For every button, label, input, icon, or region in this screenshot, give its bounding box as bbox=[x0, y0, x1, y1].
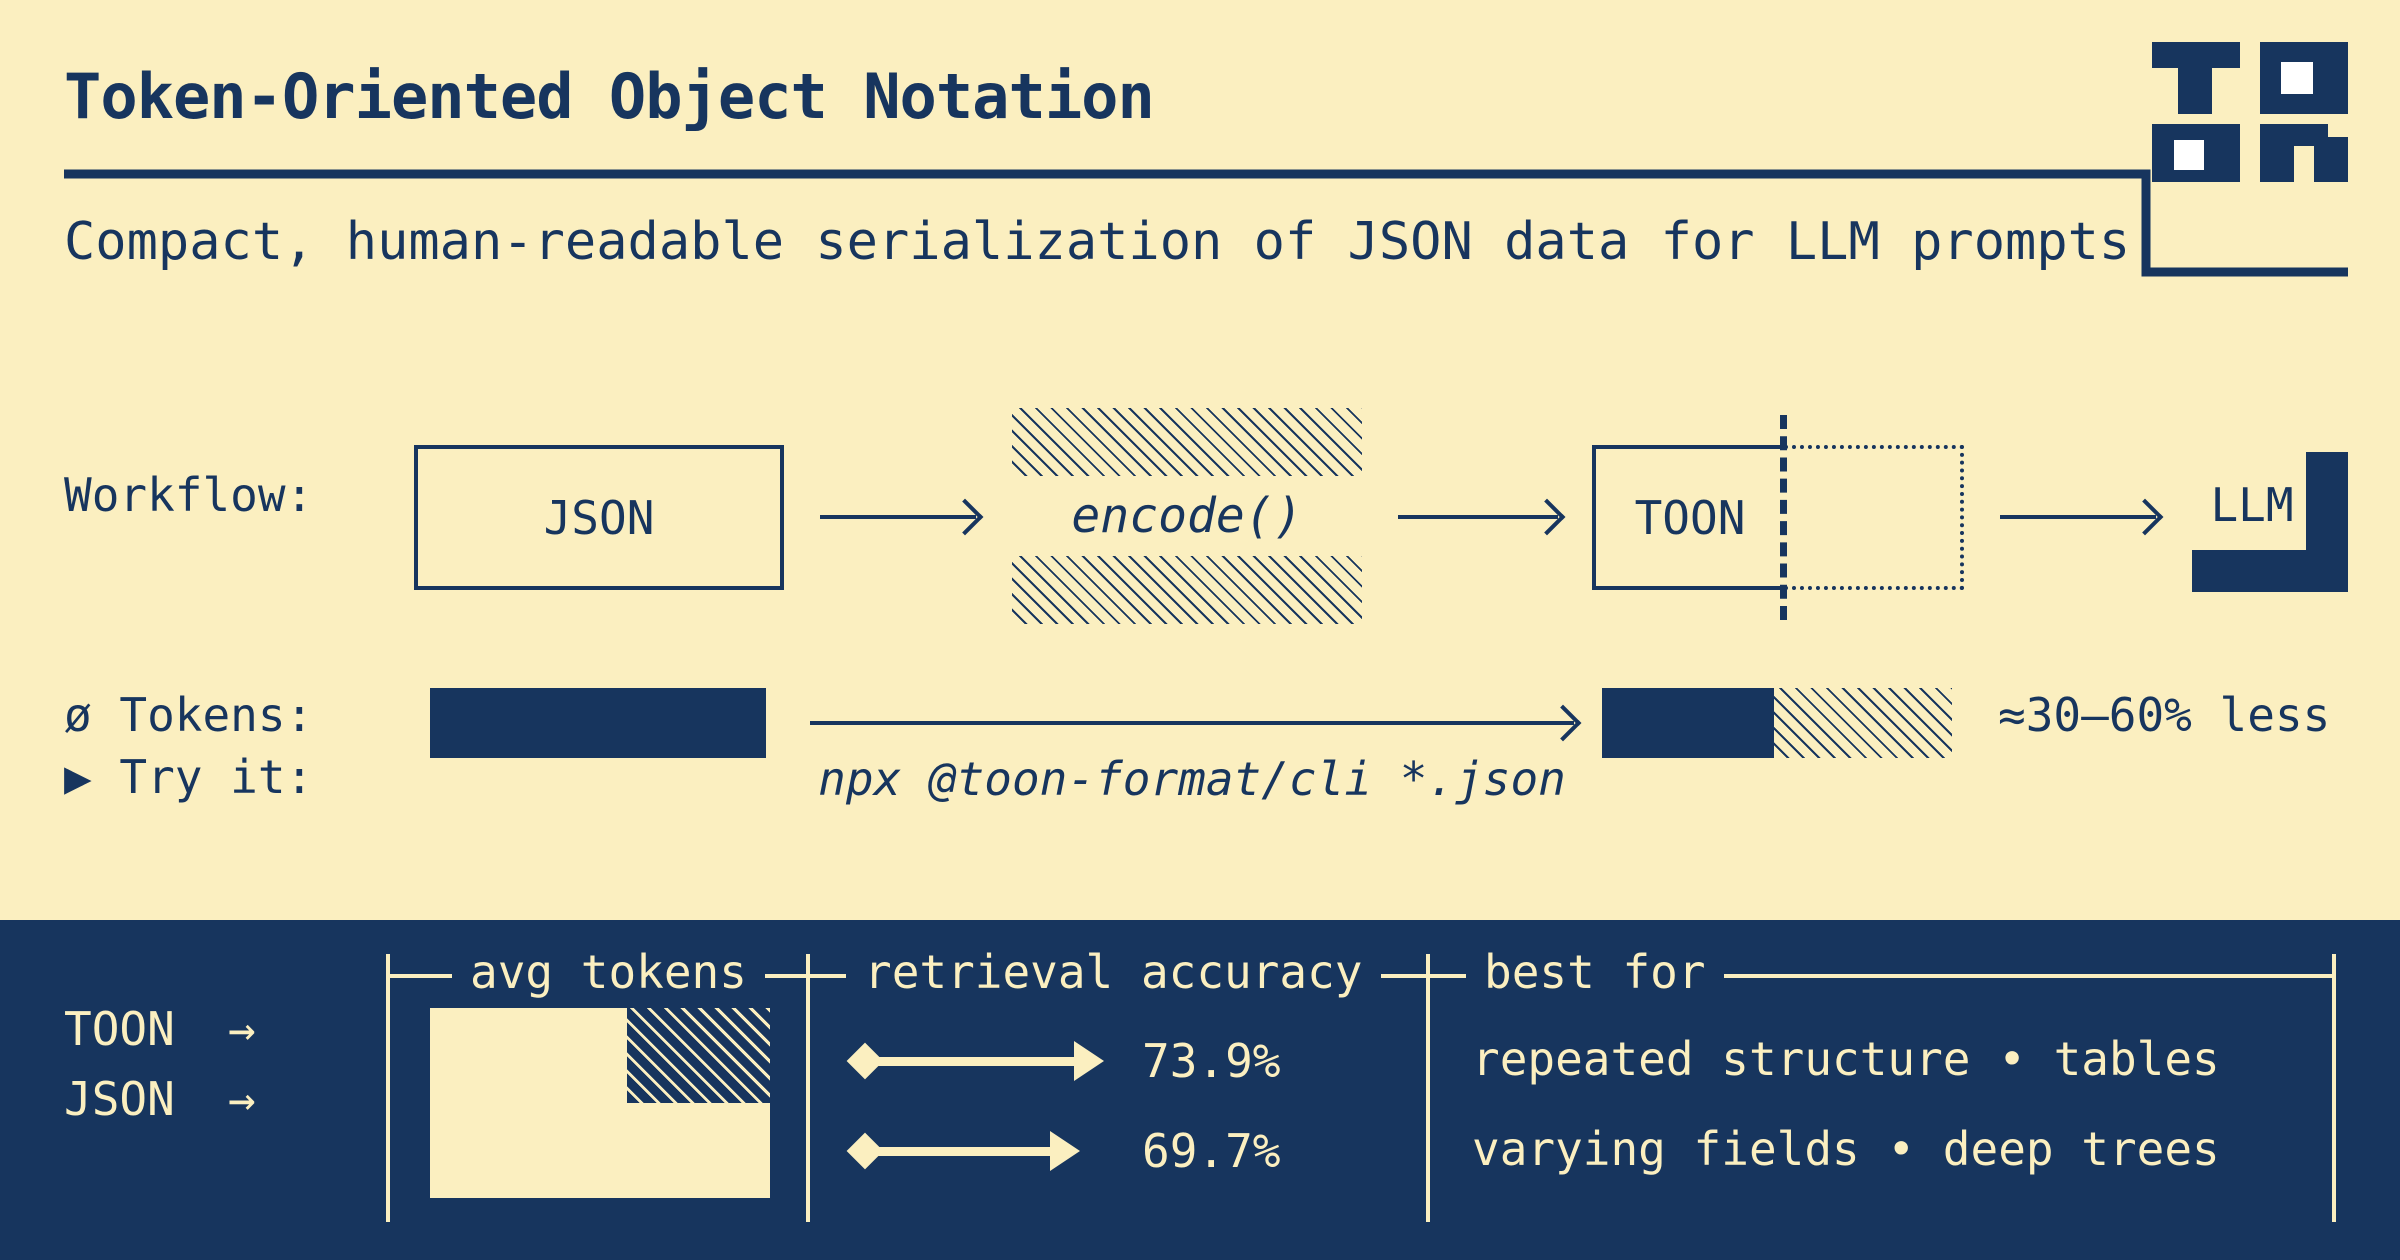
panel-best-for: best for repeated structure • tables var… bbox=[1426, 954, 2336, 1222]
best-for-item-json: varying fields • deep trees bbox=[1472, 1104, 2220, 1194]
stats-row-arrow-json-icon: → bbox=[228, 1072, 256, 1126]
avg-tokens-bar-toon bbox=[430, 1008, 770, 1103]
accuracy-row-toon: 73.9% bbox=[852, 1016, 1412, 1106]
panel-acc-legend: retrieval accuracy bbox=[806, 953, 1426, 999]
logo-letter-o2-hole-icon bbox=[2174, 140, 2204, 170]
avg-tokens-bar-json bbox=[430, 1103, 770, 1198]
panel-avg-legend: avg tokens bbox=[386, 953, 806, 999]
stats-row-labels: TOON → JSON → bbox=[64, 994, 344, 1134]
panel-avg-tokens: avg tokens bbox=[386, 954, 806, 1222]
panel-best-legend-line-left bbox=[1426, 974, 1466, 978]
workflow-label: Workflow: bbox=[64, 468, 313, 522]
tokens-bar-toon bbox=[1602, 688, 1952, 758]
page-subtitle: Compact, human-readable serialization of… bbox=[64, 212, 2130, 272]
workflow-arrow-3-icon bbox=[2000, 515, 2156, 519]
poster-canvas: Token-Oriented Object Notation Compact, … bbox=[0, 0, 2400, 1260]
tokens-savings-note: ≈30–60% less bbox=[1998, 688, 2330, 742]
panel-best-left-border bbox=[1426, 954, 1430, 1222]
panel-avg-left-border bbox=[386, 954, 390, 1222]
logo-letter-o1-hole-icon bbox=[2281, 62, 2313, 94]
panel-acc-left-border bbox=[806, 954, 810, 1222]
workflow-node-toon-divider-icon bbox=[1780, 415, 1787, 620]
logo-letter-n-right-icon bbox=[2314, 137, 2348, 182]
best-for-list: repeated structure • tables varying fiel… bbox=[1472, 1014, 2220, 1194]
accuracy-value-toon: 73.9% bbox=[1142, 1034, 1280, 1088]
logo-letter-t-stem-icon bbox=[2178, 68, 2212, 114]
stats-row-arrow-toon-icon: → bbox=[228, 1002, 256, 1056]
workflow-arrow-2-icon bbox=[1398, 515, 1558, 519]
avg-tokens-bar-toon-hatch-icon bbox=[627, 1008, 770, 1103]
tokens-row: ø Tokens: ▶ Try it: ≈30–60% less npx @to… bbox=[0, 680, 2400, 880]
encode-hatch-bottom-icon bbox=[1012, 556, 1362, 624]
panel-acc-legend-line-right bbox=[1381, 974, 1427, 978]
tokens-label: ø Tokens: bbox=[64, 688, 313, 742]
tokens-bar-toon-solid bbox=[1602, 688, 1774, 758]
tokens-bar-toon-hatch-icon bbox=[1774, 688, 1952, 758]
tokens-comparison-arrow-icon bbox=[810, 721, 1574, 725]
avg-tokens-bar-json-fill bbox=[430, 1103, 770, 1198]
encode-hatch-top-icon bbox=[1012, 408, 1362, 476]
best-for-item-toon: repeated structure • tables bbox=[1472, 1014, 2220, 1104]
workflow-node-encode-label: encode() bbox=[1012, 476, 1362, 556]
panel-acc-legend-line-left bbox=[806, 974, 846, 978]
accuracy-tail-diamond-json-icon bbox=[847, 1133, 884, 1170]
panel-best-legend-text: best for bbox=[1466, 949, 1724, 995]
panel-avg-legend-text: avg tokens bbox=[452, 949, 765, 995]
install-command[interactable]: npx @toon-format/cli *.json bbox=[810, 752, 1574, 806]
panel-best-legend: best for bbox=[1426, 953, 2336, 999]
accuracy-arrowhead-json-icon bbox=[1050, 1131, 1080, 1171]
toon-logo bbox=[2152, 42, 2348, 182]
top-section: Token-Oriented Object Notation Compact, … bbox=[0, 0, 2400, 920]
workflow-node-llm: LLM bbox=[2192, 442, 2348, 592]
workflow-node-json-label: JSON bbox=[544, 491, 655, 545]
accuracy-line-toon bbox=[875, 1057, 1075, 1066]
panel-avg-legend-line-right bbox=[765, 974, 806, 978]
try-it-label: ▶ Try it: bbox=[64, 750, 313, 804]
workflow-node-llm-label: LLM bbox=[2192, 478, 2312, 532]
workflow-node-toon-label: TOON bbox=[1592, 445, 1784, 590]
avg-tokens-bar-toon-fill bbox=[430, 1008, 627, 1103]
workflow-node-toon: TOON bbox=[1592, 445, 1964, 590]
panel-acc-legend-text: retrieval accuracy bbox=[846, 949, 1381, 995]
panel-best-right-border bbox=[2332, 954, 2336, 1222]
workflow-row: Workflow: JSON encode() TOON LLM bbox=[0, 400, 2400, 620]
llm-bracket-bottom-icon bbox=[2192, 550, 2348, 592]
accuracy-line-json bbox=[875, 1147, 1051, 1156]
workflow-node-encode: encode() bbox=[1012, 408, 1362, 624]
workflow-node-json: JSON bbox=[414, 445, 784, 590]
workflow-arrow-1-icon bbox=[820, 515, 976, 519]
page-title: Token-Oriented Object Notation bbox=[64, 60, 1154, 133]
panel-retrieval-accuracy: retrieval accuracy 73.9% 69.7% bbox=[806, 954, 1426, 1222]
accuracy-row-json: 69.7% bbox=[852, 1106, 1412, 1196]
stats-panel: TOON → JSON → avg tokens bbox=[0, 920, 2400, 1260]
panel-best-legend-line-right bbox=[1724, 974, 2336, 978]
logo-letter-t-icon bbox=[2152, 42, 2240, 68]
workflow-node-toon-extension bbox=[1784, 445, 1964, 590]
panel-avg-legend-line-left bbox=[386, 974, 452, 978]
stats-row-format-json: JSON bbox=[64, 1072, 184, 1126]
tokens-bar-json bbox=[430, 688, 766, 758]
accuracy-arrowhead-toon-icon bbox=[1074, 1041, 1104, 1081]
accuracy-value-json: 69.7% bbox=[1142, 1124, 1280, 1178]
avg-tokens-chart bbox=[430, 1008, 770, 1198]
stats-row-label-json: JSON → bbox=[64, 1064, 344, 1134]
stats-row-format-toon: TOON bbox=[64, 1002, 184, 1056]
accuracy-tail-diamond-toon-icon bbox=[847, 1043, 884, 1080]
stats-row-label-toon: TOON → bbox=[64, 994, 344, 1064]
